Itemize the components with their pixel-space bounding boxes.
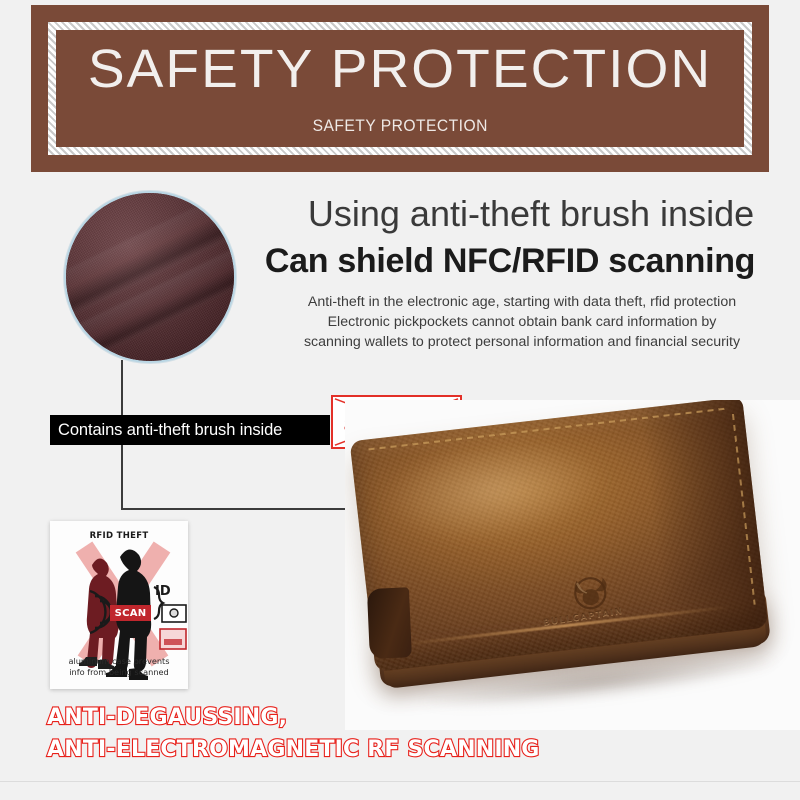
description-paragraph: Anti-theft in the electronic age, starti… bbox=[258, 292, 786, 352]
id-label: ID bbox=[155, 584, 171, 599]
banner-subtitle: SAFETY PROTECTION bbox=[312, 116, 487, 136]
wallet-left-edge bbox=[367, 587, 412, 659]
scan-badge: SCAN bbox=[110, 605, 151, 621]
banner-hatched-frame: SAFETY PROTECTION SAFETY PROTECTION bbox=[48, 22, 752, 155]
bottom-divider bbox=[0, 781, 800, 782]
header-banner: SAFETY PROTECTION SAFETY PROTECTION bbox=[31, 5, 769, 172]
banner-title: SAFETY PROTECTION bbox=[88, 42, 712, 96]
fabric-swatch-circle bbox=[64, 191, 236, 363]
leather-wallet: BULLCAPTAIN bbox=[350, 400, 777, 700]
document-card-icons bbox=[160, 605, 186, 649]
theft-card-caption: aluminum case prevents info from being s… bbox=[50, 656, 188, 678]
description-line-3: scanning wallets to protect personal inf… bbox=[258, 332, 786, 352]
caption-line-2: info from being scanned bbox=[69, 667, 169, 677]
banner-inner: SAFETY PROTECTION SAFETY PROTECTION bbox=[56, 30, 744, 147]
caption-line-1: aluminum case prevents bbox=[68, 656, 169, 666]
wallet-product-photo: BULLCAPTAIN bbox=[345, 400, 800, 730]
description-line-2: Electronic pickpockets cannot obtain ban… bbox=[258, 312, 786, 332]
fabric-shading bbox=[66, 193, 234, 361]
wallet-front-panel bbox=[350, 400, 769, 672]
heading-secondary: Using anti-theft brush inside bbox=[276, 193, 786, 235]
callout-label-bar: Contains anti-theft brush inside bbox=[50, 415, 330, 445]
rfid-theft-illustration-card: RFID THEFT bbox=[50, 521, 188, 689]
product-feature-page: SAFETY PROTECTION SAFETY PROTECTION Usin… bbox=[0, 0, 800, 800]
footer-headline-line-2: ANTI-ELECTROMAGNETIC RF SCANNING bbox=[47, 737, 540, 762]
footer-headline-line-1: ANTI-DEGAUSSING, bbox=[47, 705, 287, 730]
heading-primary: Can shield NFC/RFID scanning bbox=[230, 242, 790, 281]
description-line-1: Anti-theft in the electronic age, starti… bbox=[258, 292, 786, 312]
